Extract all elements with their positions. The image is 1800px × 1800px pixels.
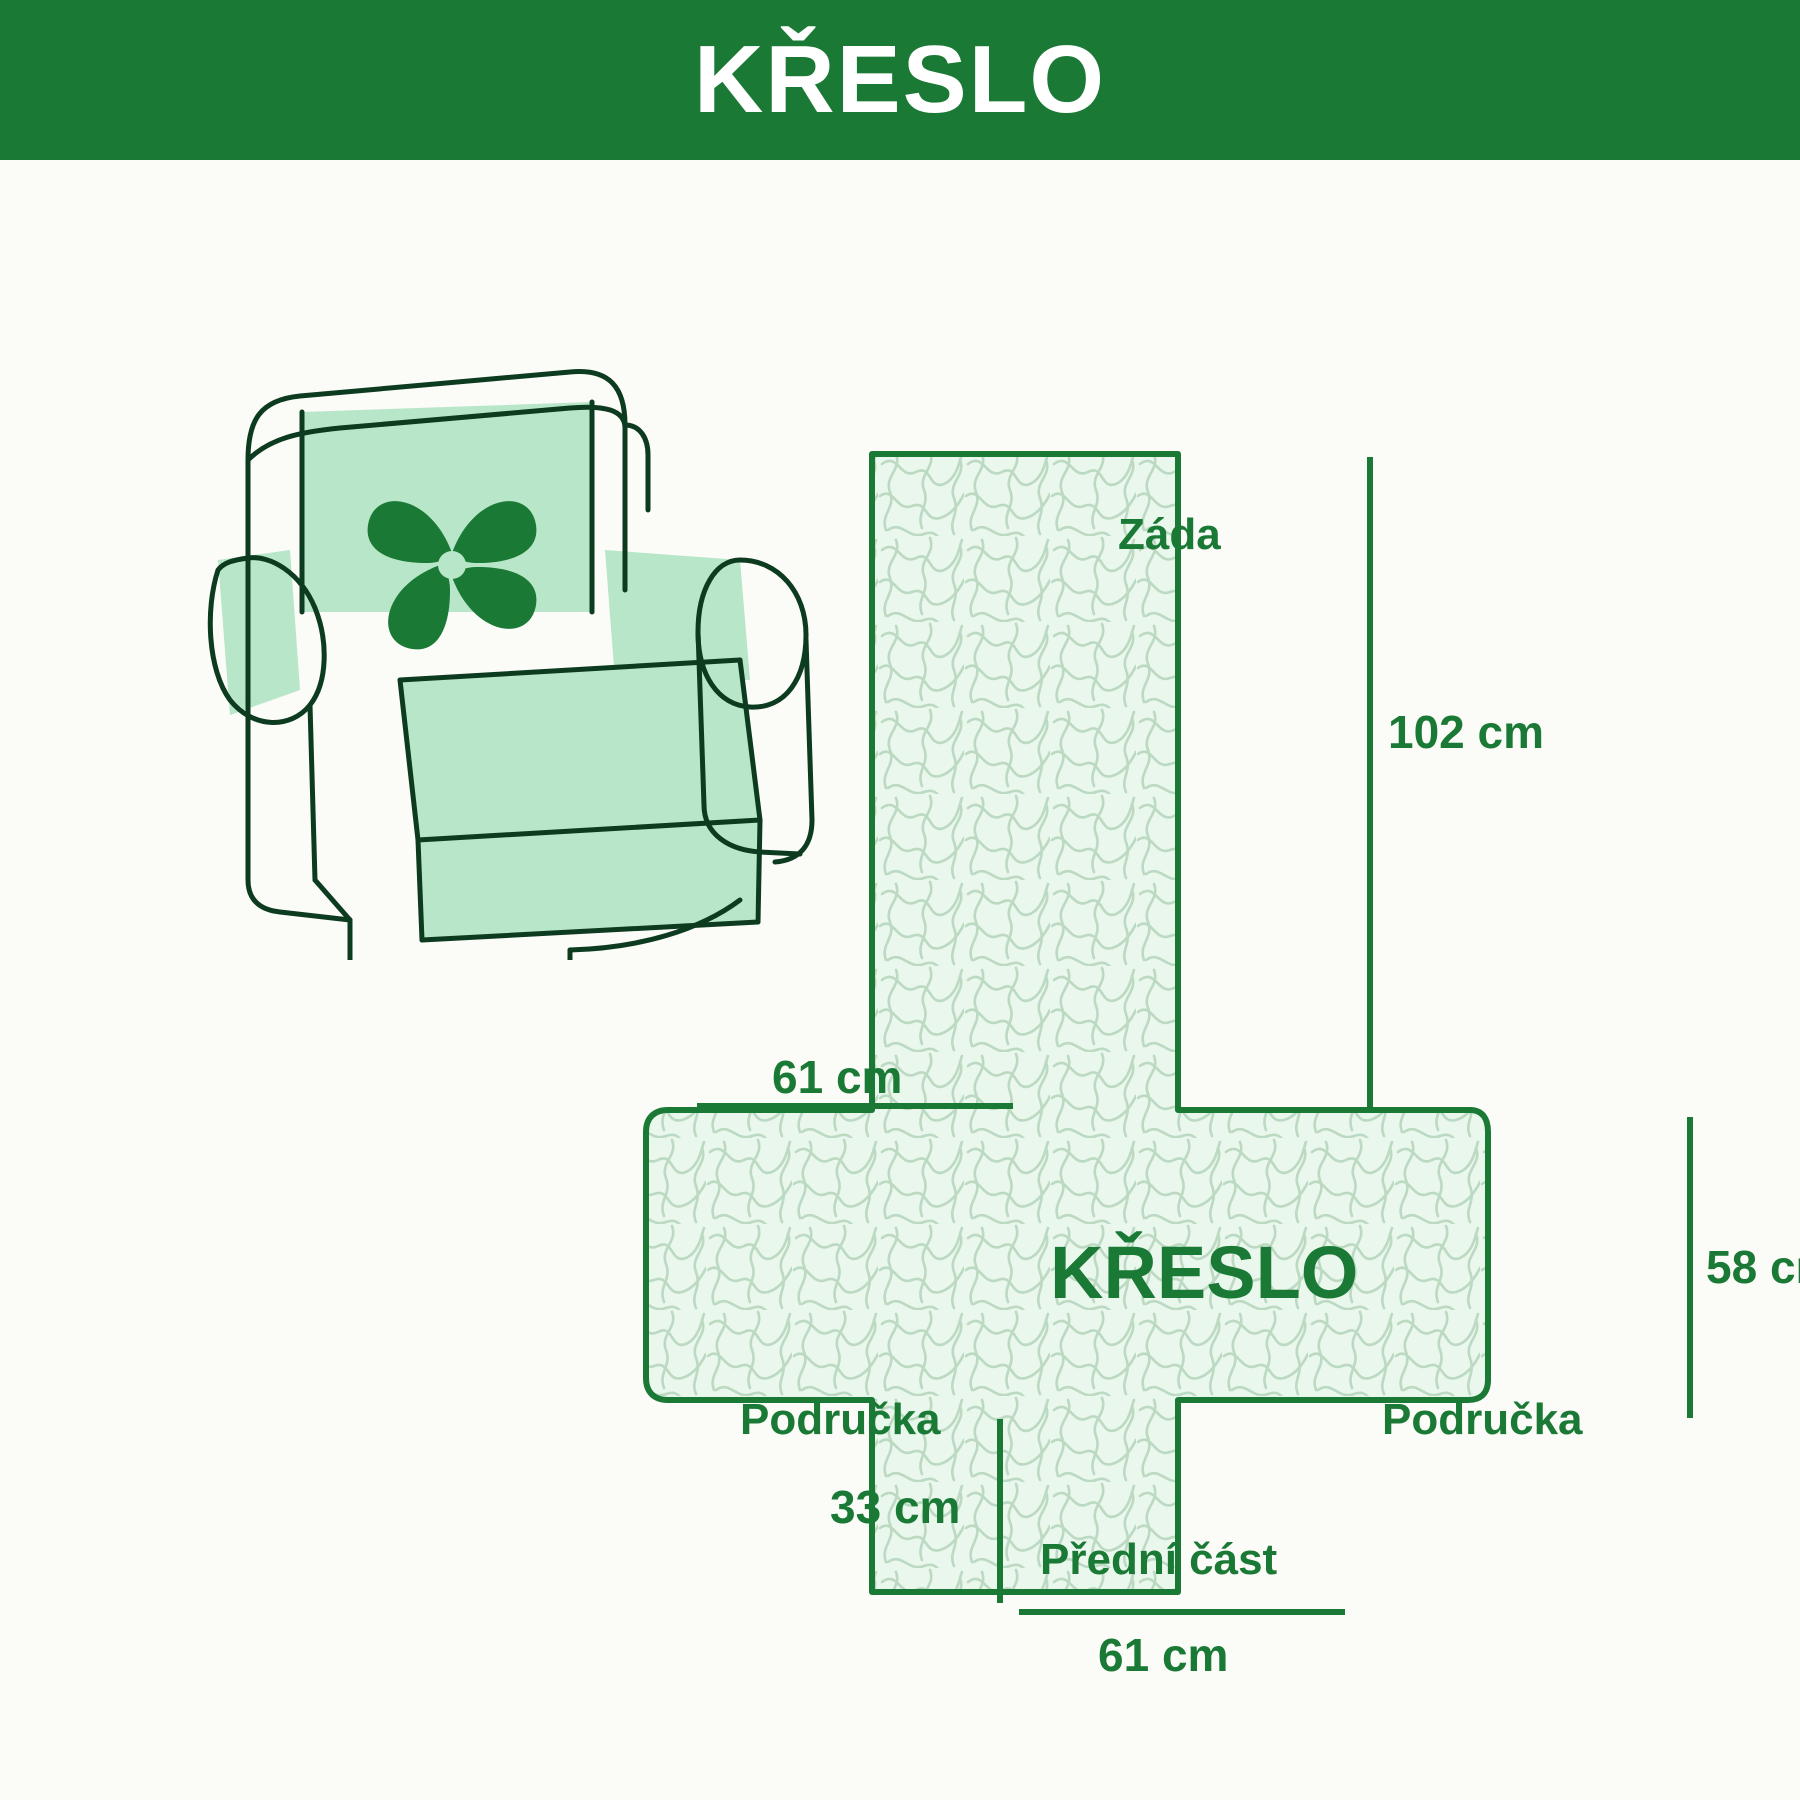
dimension-label-back-width: 61 cm (772, 1050, 902, 1104)
page-title: KŘESLO (694, 32, 1106, 128)
pattern-center-label: KŘESLO (1050, 1230, 1358, 1315)
pattern-section-label-armrest-right: Područka (1382, 1395, 1583, 1445)
pattern-section-label-armrest-left: Područka (740, 1395, 941, 1445)
diagram-canvas: Záda KŘESLO Područka Područka Přední čás… (0, 160, 1800, 1800)
dimension-lines (0, 160, 1800, 1800)
dimension-label-front-height: 33 cm (830, 1480, 960, 1534)
dimension-label-front-width: 61 cm (1098, 1628, 1228, 1682)
dimension-label-seat-depth: 58 cm (1706, 1240, 1800, 1294)
pattern-section-label-front: Přední část (1040, 1535, 1277, 1585)
dimension-label-back-height: 102 cm (1388, 705, 1544, 759)
pattern-section-label-back: Záda (1118, 510, 1221, 560)
header-bar: KŘESLO (0, 0, 1800, 160)
